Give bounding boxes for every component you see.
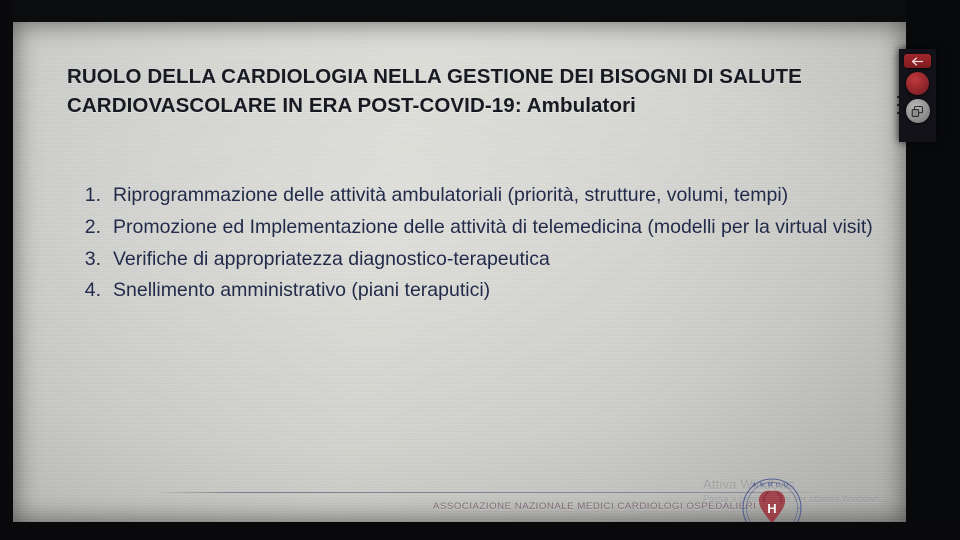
presentation-slide: RUOLO DELLA CARDIOLOGIA NELLA GESTIONE D…	[13, 22, 906, 522]
list-item-number: 4.	[79, 275, 113, 306]
share-button[interactable]	[906, 99, 930, 123]
list-item-text: Riprogrammazione delle attività ambulato…	[113, 180, 879, 211]
list-item-number: 1.	[79, 180, 113, 211]
bullet-list: 1. Riprogrammazione delle attività ambul…	[79, 180, 879, 307]
windows-activation-watermark: Attiva Windows Passa a Impostazioni per …	[703, 477, 906, 504]
screen-bezel-top	[0, 0, 960, 22]
list-item-number: 2.	[79, 212, 113, 243]
list-item: 3. Verifiche di appropriatezza diagnosti…	[79, 244, 879, 275]
list-item: 1. Riprogrammazione delle attività ambul…	[79, 180, 879, 211]
list-item-number: 3.	[79, 244, 113, 275]
back-button[interactable]	[904, 54, 931, 68]
footer-caption: ASSOCIAZIONE NAZIONALE MEDICI CARDIOLOGI…	[433, 501, 756, 512]
record-button[interactable]	[906, 72, 929, 95]
footer-divider	[160, 492, 820, 493]
watermark-title: Attiva Windows	[703, 477, 906, 492]
projected-screen-photo: RUOLO DELLA CARDIOLOGIA NELLA GESTIONE D…	[0, 0, 960, 540]
list-item-text: Promozione ed Implementazione delle atti…	[113, 212, 879, 243]
svg-text:A.N.M.C.O.: A.N.M.C.O.	[752, 483, 792, 489]
screen-bezel-bottom	[0, 522, 960, 540]
list-item: 4. Snellimento amministrativo (piani ter…	[79, 275, 879, 306]
page-title: RUOLO DELLA CARDIOLOGIA NELLA GESTIONE D…	[67, 62, 867, 120]
overlay-control-strip	[899, 49, 936, 142]
list-item-text: Snellimento amministrativo (piani terapu…	[113, 275, 879, 306]
screen-bezel-left	[0, 0, 13, 540]
list-item: 2. Promozione ed Implementazione delle a…	[79, 212, 879, 243]
anmco-logo: H A.N.M.C.O. CARDIOLOGI OSPEDALIERI	[741, 477, 803, 522]
svg-text:H: H	[767, 501, 776, 516]
list-item-text: Verifiche di appropriatezza diagnostico-…	[113, 244, 879, 275]
